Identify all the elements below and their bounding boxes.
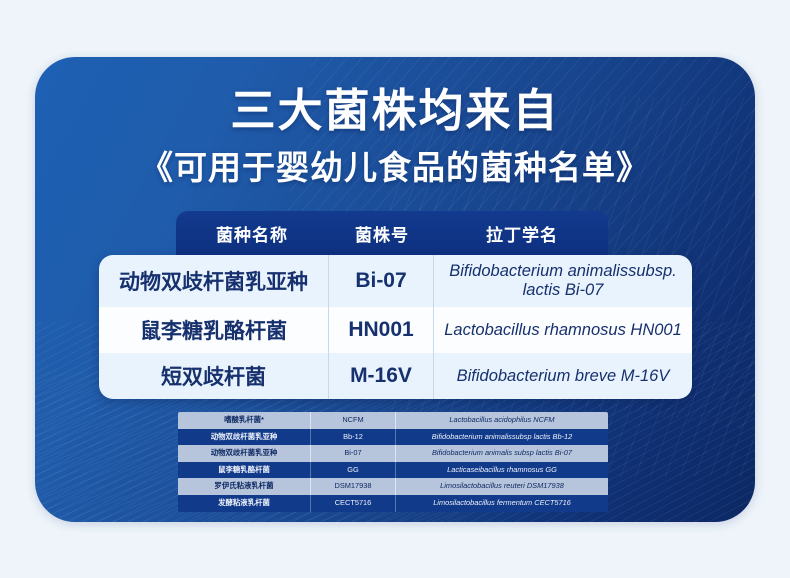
column-header-name: 菌种名称 <box>176 221 328 246</box>
column-header-latin: 拉丁学名 <box>436 221 608 246</box>
cell-strain: Bb-12 <box>310 429 396 446</box>
cell-name: 鼠李糖乳酪杆菌 <box>99 307 328 353</box>
cell-latin: Limosilactobacillus fermentum CECT5716 <box>396 495 608 512</box>
cell-strain: GG <box>310 462 396 479</box>
cell-latin: Lactobacillus rhamnosus HN001 <box>434 307 692 353</box>
cell-latin: Bifidobacterium breve M-16V <box>434 353 692 399</box>
reference-table-row: 发酵粘液乳杆菌 CECT5716 Limosilactobacillus fer… <box>178 495 608 512</box>
reference-table-row: 鼠李糖乳酪杆菌 GG Lacticaseibacillus rhamnosus … <box>178 462 608 479</box>
cell-latin: Lacticaseibacillus rhamnosus GG <box>396 462 608 479</box>
main-table-header: 菌种名称 菌株号 拉丁学名 <box>176 211 608 255</box>
table-row: 动物双歧杆菌乳亚种 Bi-07 Bifidobacterium animalis… <box>99 255 692 307</box>
cell-name: 动物双歧杆菌乳亚种 <box>178 445 310 462</box>
cell-latin: Bifidobacterium animalissubsp lactis Bb-… <box>396 429 608 446</box>
main-table-body: 动物双歧杆菌乳亚种 Bi-07 Bifidobacterium animalis… <box>99 255 692 399</box>
cell-latin: Bifidobacterium animalis subsp lactis Bi… <box>396 445 608 462</box>
reference-table-row: 动物双歧杆菌乳亚种 Bb-12 Bifidobacterium animalis… <box>178 429 608 446</box>
page-title: 三大菌株均来自 <box>0 74 790 139</box>
cell-latin: Limosilactobacillus reuteri DSM17938 <box>396 478 608 495</box>
cell-strain: M-16V <box>328 353 434 399</box>
cell-name: 短双歧杆菌 <box>99 353 328 399</box>
cell-name: 鼠李糖乳酪杆菌 <box>178 462 310 479</box>
table-row: 鼠李糖乳酪杆菌 HN001 Lactobacillus rhamnosus HN… <box>99 307 692 353</box>
cell-strain: DSM17938 <box>310 478 396 495</box>
cell-strain: Bi-07 <box>310 445 396 462</box>
page-root: 三大菌株均来自 《可用于婴幼儿食品的菌种名单》 菌种名称 菌株号 拉丁学名 动物… <box>0 0 790 578</box>
cell-strain: NCFM <box>310 412 396 429</box>
cell-strain: CECT5716 <box>310 495 396 512</box>
page-subtitle: 《可用于婴幼儿食品的菌种名单》 <box>0 141 790 189</box>
cell-strain: HN001 <box>328 307 434 353</box>
cell-name: 发酵粘液乳杆菌 <box>178 495 310 512</box>
column-header-strain: 菌株号 <box>328 221 436 246</box>
cell-name: 动物双歧杆菌乳亚种 <box>178 429 310 446</box>
cell-latin: Bifidobacterium animalissubsp. lactis Bi… <box>434 255 692 307</box>
cell-latin: Lactobacillus acidophilus NCFM <box>396 412 608 429</box>
cell-name: 嗜酸乳杆菌* <box>178 412 310 429</box>
cell-name: 罗伊氏粘液乳杆菌 <box>178 478 310 495</box>
reference-table-row: 嗜酸乳杆菌* NCFM Lactobacillus acidophilus NC… <box>178 412 608 429</box>
reference-table-row: 动物双歧杆菌乳亚种 Bi-07 Bifidobacterium animalis… <box>178 445 608 462</box>
reference-table-row: 罗伊氏粘液乳杆菌 DSM17938 Limosilactobacillus re… <box>178 478 608 495</box>
cell-strain: Bi-07 <box>328 255 434 307</box>
reference-table: 嗜酸乳杆菌* NCFM Lactobacillus acidophilus NC… <box>178 412 608 512</box>
table-row: 短双歧杆菌 M-16V Bifidobacterium breve M-16V <box>99 353 692 399</box>
cell-name: 动物双歧杆菌乳亚种 <box>99 255 328 307</box>
